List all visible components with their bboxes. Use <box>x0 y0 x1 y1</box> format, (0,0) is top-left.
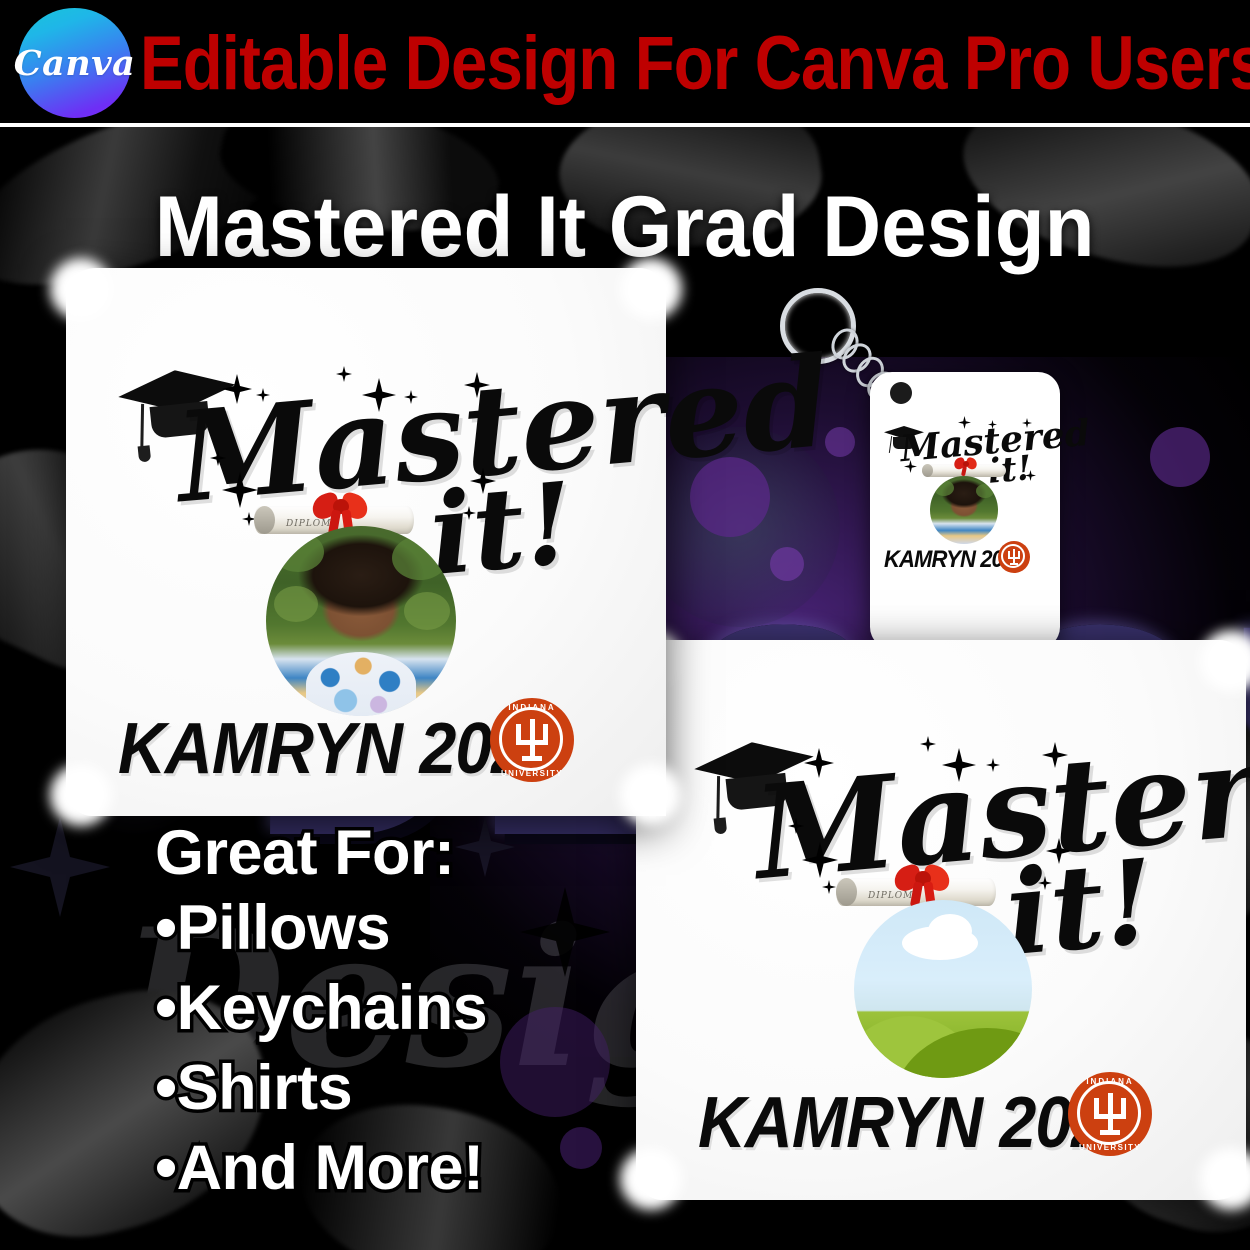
product-pillow-secondary[interactable]: Mastered it! DIPLOMA <box>636 640 1246 1200</box>
great-for-item-label: Shirts <box>177 1053 353 1123</box>
university-badge-top-text: INDIANA <box>490 703 574 712</box>
great-for-item: •Shirts <box>155 1048 635 1128</box>
list-bullet: • <box>155 893 177 963</box>
pillow-corner <box>50 764 112 826</box>
pillow-primary-design: Mastered it! DIPLOMA <box>114 364 624 794</box>
banner-divider <box>0 123 1250 127</box>
great-for-item-label: And More! <box>177 1133 484 1203</box>
product-pillow-primary[interactable]: Mastered it! DIPLOMA <box>66 268 666 816</box>
bokeh-dot <box>1150 427 1210 487</box>
red-bow-icon <box>954 456 978 476</box>
pillow-corner <box>50 258 112 320</box>
pillow-corner <box>620 258 682 320</box>
promo-banner: Canva Editable Design For Canva Pro User… <box>0 0 1250 123</box>
keychain-tag: Mastered it! <box>870 372 1060 649</box>
university-badge-bottom-text: UNIVERSITY <box>1068 1143 1152 1152</box>
canva-circle-logo: Canva <box>18 8 131 118</box>
great-for-item: •Pillows <box>155 888 635 968</box>
great-for-item-label: Pillows <box>177 893 391 963</box>
canva-logo-text: Canva <box>14 43 136 84</box>
poster-canvas: DESIGN Design Mastered It Grad Design <box>0 0 1250 1250</box>
promo-banner-title: Editable Design For Canva Pro Users <box>140 14 1245 114</box>
keychain-design: Mastered it! <box>870 398 1060 628</box>
iu-trident-icon <box>1093 1093 1127 1135</box>
list-bullet: • <box>155 1133 177 1203</box>
iu-trident-icon <box>1008 549 1020 565</box>
placeholder-photo <box>854 900 1032 1078</box>
university-badge <box>998 541 1030 573</box>
university-badge-top-text: INDIANA <box>1068 1077 1152 1086</box>
university-badge: INDIANA UNIVERSITY <box>1068 1072 1152 1156</box>
list-bullet: • <box>155 1053 177 1123</box>
great-for-block: Great For: •Pillows •Keychains •Shirts •… <box>155 818 635 1208</box>
pillow-corner <box>620 764 682 826</box>
graduate-photo <box>266 526 456 716</box>
great-for-item-label: Keychains <box>177 973 488 1043</box>
pillow-secondary-design: Mastered it! DIPLOMA <box>676 730 1206 1170</box>
page-title-text: Mastered It Grad Design <box>155 178 1095 277</box>
iu-trident-icon <box>515 719 549 761</box>
great-for-heading: Great For: <box>155 818 635 888</box>
page-title: Mastered It Grad Design <box>0 178 1250 277</box>
university-badge-bottom-text: UNIVERSITY <box>490 769 574 778</box>
great-for-item: •And More! <box>155 1128 635 1208</box>
backdrop-star <box>10 817 110 917</box>
graduate-photo <box>930 476 998 544</box>
university-badge: INDIANA UNIVERSITY <box>490 698 574 782</box>
great-for-item: •Keychains <box>155 968 635 1048</box>
list-bullet: • <box>155 973 177 1043</box>
promo-banner-title-text: Editable Design For Canva Pro Users <box>140 26 1250 102</box>
design-script-line-1: Mastered <box>749 701 1250 909</box>
